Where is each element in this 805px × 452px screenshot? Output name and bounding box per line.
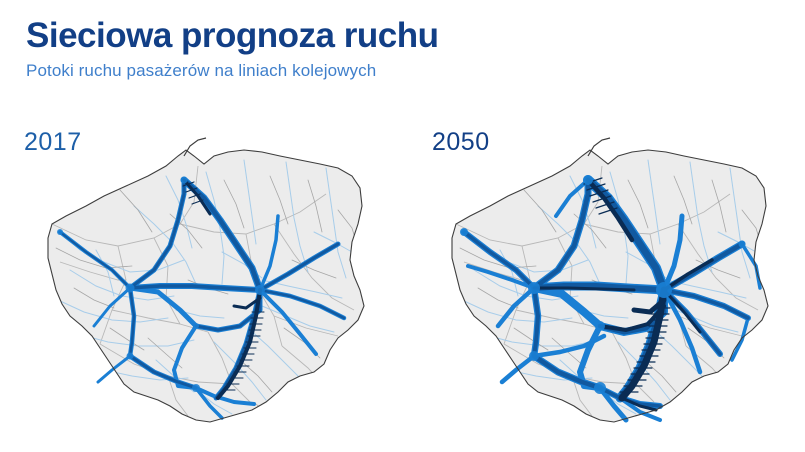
- poland-rail-flow-map-2050: [412, 120, 805, 452]
- header: Sieciowa prognoza ruchu Potoki ruchu pas…: [26, 18, 786, 81]
- page-title: Sieciowa prognoza ruchu: [26, 18, 786, 55]
- map-panels: 2017: [0, 120, 805, 452]
- map-panel-2017: 2017: [8, 120, 408, 452]
- page-subtitle: Potoki ruchu pasażerów na liniach kolejo…: [26, 61, 786, 81]
- poland-rail-flow-map-2017: [8, 120, 408, 452]
- map-panel-2050: 2050: [412, 120, 805, 452]
- infographic-root: Sieciowa prognoza ruchu Potoki ruchu pas…: [0, 0, 805, 452]
